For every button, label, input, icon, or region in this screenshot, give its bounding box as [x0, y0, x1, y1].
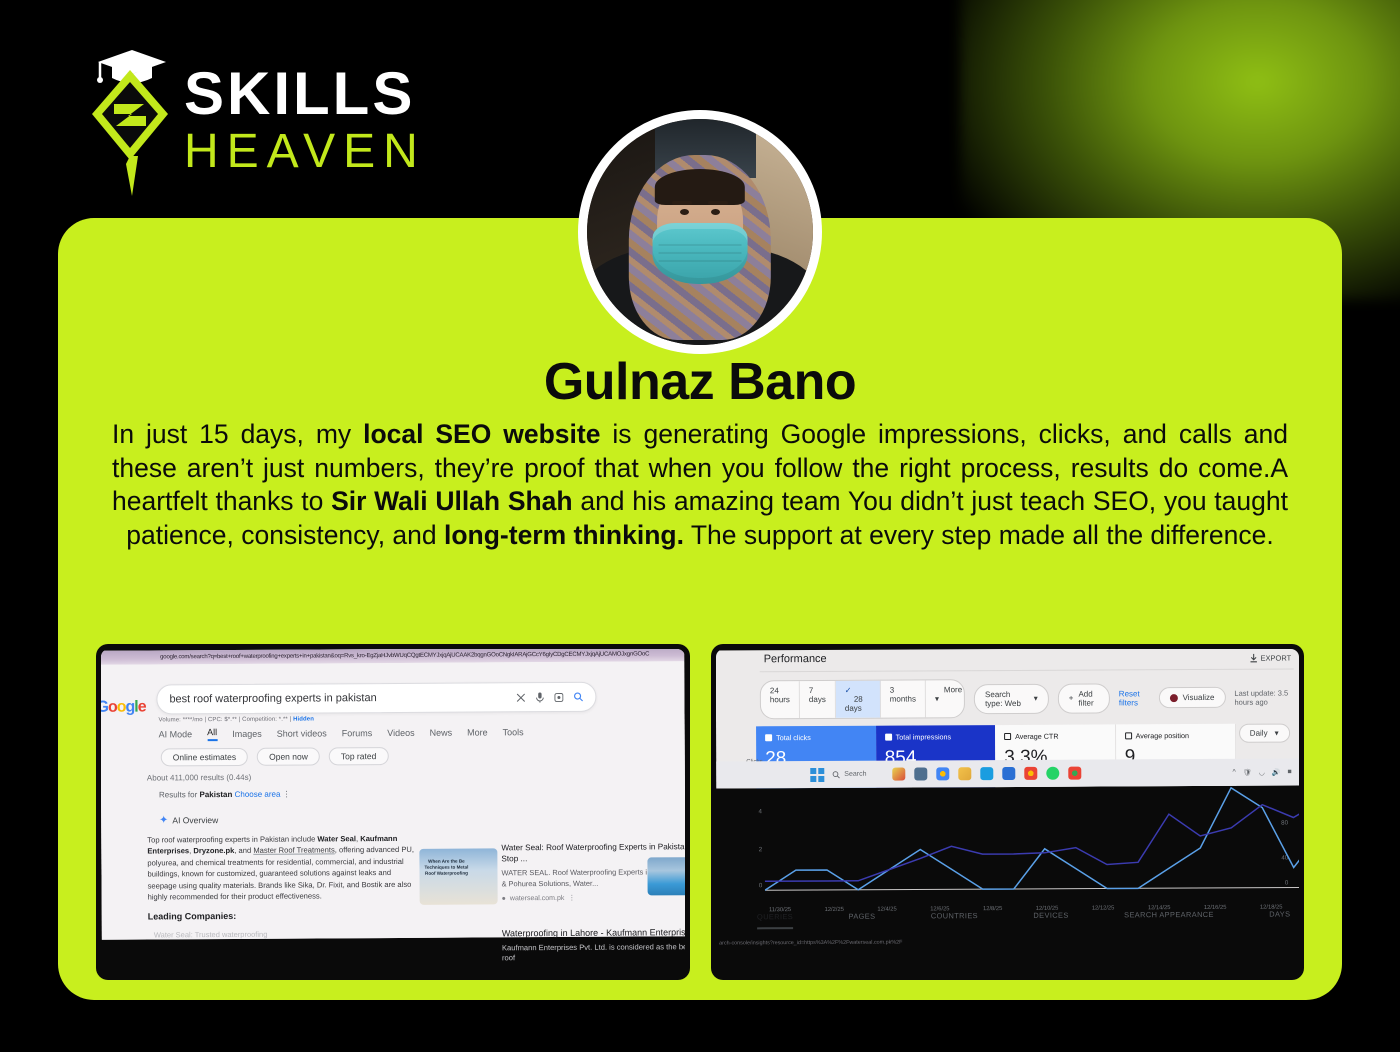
tab-more[interactable]: More	[467, 727, 488, 737]
tab-all[interactable]: All	[207, 727, 217, 741]
tab-short-videos[interactable]: Short videos	[277, 728, 327, 738]
brand-logo: SKILLS HEAVEN	[88, 50, 426, 190]
microphone-icon[interactable]	[535, 692, 544, 703]
logo-bolt-icon	[88, 64, 172, 204]
lens-icon[interactable]	[554, 692, 563, 701]
result-snippet-2: Kaufmann Enterprises Pvt. Ltd. is consid…	[502, 942, 685, 963]
search-query-text: best roof waterproofing experts in pakis…	[169, 691, 516, 705]
ai-sparkle-icon: ✦	[159, 813, 168, 826]
gsc-toolbar: 24 hours 7 days ✓ 28 days 3 months More …	[759, 677, 1299, 719]
store-icon[interactable]	[1002, 767, 1015, 780]
search-input[interactable]: best roof waterproofing experts in pakis…	[156, 682, 596, 715]
status-bar-url: arch-console/insights?resource_id=https%…	[719, 940, 902, 947]
avatar	[578, 110, 822, 354]
tab-ai-mode[interactable]: AI Mode	[159, 729, 193, 739]
ai-overview-header: ✦ AI Overview	[159, 810, 675, 826]
files-icon[interactable]	[914, 767, 927, 780]
result-menu-icon[interactable]: ⋮	[568, 894, 575, 902]
results-for-label: Results for	[159, 790, 197, 799]
testimonial-text: In just 15 days, my local SEO website is…	[112, 418, 1288, 552]
folder-icon[interactable]	[958, 767, 971, 780]
plus-icon: +	[1068, 694, 1073, 703]
tab-tools[interactable]: Tools	[503, 727, 524, 737]
taskbar-search-label: Search	[844, 771, 866, 778]
chevron-down-icon: ▾	[1033, 694, 1037, 703]
serp-screenshot: google.com/search?q=best+roof+waterproof…	[96, 644, 690, 980]
metric-label: Average position	[1135, 731, 1188, 740]
chip-top-rated[interactable]: Top rated	[329, 747, 389, 765]
taskbar-tray: ^ 🛡 ◡ 🔊 ■	[1232, 768, 1291, 776]
whatsapp-icon[interactable]	[1046, 767, 1059, 780]
date-range-selector: 24 hours 7 days ✓ 28 days 3 months More …	[759, 679, 964, 719]
ai-overview-label: AI Overview	[172, 815, 218, 825]
checkbox-unchecked-icon[interactable]	[1004, 733, 1011, 740]
tab-news[interactable]: News	[430, 728, 453, 738]
keyword-metrics-text: Volume: ****/mo | CPC: $*.** | Competiti…	[159, 717, 292, 724]
face-mask-icon	[653, 223, 748, 284]
tab-videos[interactable]: Videos	[387, 728, 414, 738]
ytick-0: 0	[758, 882, 761, 889]
close-icon[interactable]	[516, 693, 525, 702]
tab-devices[interactable]: DEVICES	[1033, 911, 1068, 928]
metric-label: Total impressions	[895, 732, 951, 741]
windows-taskbar: Search ^ 🛡	[716, 758, 1299, 788]
ai-overview-text: Top roof waterproofing experts in Pakist…	[147, 833, 419, 903]
tab-images[interactable]: Images	[232, 729, 262, 739]
result-item-1[interactable]: Water Seal: Roof Waterproofing Experts i…	[501, 841, 684, 902]
chip-online-estimates[interactable]: Online estimates	[161, 748, 248, 767]
visualize-button[interactable]: Visualize	[1158, 687, 1225, 708]
favicon-icon: ●	[502, 895, 506, 902]
tab-pages[interactable]: PAGES	[848, 912, 875, 929]
chrome-icon-2[interactable]	[1024, 767, 1037, 780]
screenshot-row: google.com/search?q=best+roof+waterproof…	[96, 644, 1304, 980]
range-7-days[interactable]: 7 days	[799, 681, 835, 718]
granularity-dropdown[interactable]: Daily▾	[1238, 724, 1289, 743]
ytick-2: 2	[758, 846, 761, 853]
results-for-row: Results for Pakistan Choose area ⋮	[159, 787, 675, 799]
search-console-screenshot: Performance EXPORT 24 hours 7 days ✓ 28 …	[711, 644, 1305, 980]
taskbar-search[interactable]: Search	[832, 770, 866, 778]
result-thumbnail	[647, 857, 684, 895]
result-title-2[interactable]: Waterproofing in Lahore - Kaufmann Enter…	[502, 927, 685, 938]
filter-chips: Online estimates Open now Top rated	[161, 745, 675, 766]
result-count: About 411,000 results (0.44s)	[147, 770, 675, 782]
range-24-hours[interactable]: 24 hours	[760, 681, 799, 718]
export-button[interactable]: EXPORT	[1249, 654, 1291, 663]
header-divider	[759, 669, 1292, 673]
paint-icon[interactable]	[892, 768, 905, 781]
shield-icon[interactable]: 🛡	[1242, 768, 1251, 776]
more-options-icon[interactable]: ⋮	[283, 790, 291, 799]
result-url[interactable]: waterseal.com.pk	[510, 895, 565, 902]
volume-icon[interactable]: 🔊	[1271, 768, 1280, 776]
gsc-dimension-tabs: QUERIES PAGES COUNTRIES DEVICES SEARCH A…	[757, 910, 1291, 930]
range-3-months[interactable]: 3 months	[880, 680, 925, 717]
organic-results: Water Seal: Roof Waterproofing Experts i…	[501, 841, 684, 963]
range-more[interactable]: More ▾	[925, 680, 964, 717]
checkbox-checked-icon[interactable]	[884, 734, 891, 741]
search-icon[interactable]	[573, 692, 583, 702]
gsc-header: Performance EXPORT	[716, 649, 1299, 673]
tab-days[interactable]: DAYS	[1269, 910, 1290, 927]
wifi-icon[interactable]: ◡	[1258, 768, 1264, 776]
tab-forums[interactable]: Forums	[342, 728, 373, 738]
metric-label: Total clicks	[776, 733, 811, 742]
tab-countries[interactable]: COUNTRIES	[930, 911, 977, 928]
export-label: EXPORT	[1260, 654, 1291, 663]
visualize-dot-icon	[1169, 694, 1177, 702]
download-icon	[1249, 654, 1257, 663]
thumbnail-caption: When Are the Be Techniques to Metal Roof…	[423, 859, 469, 877]
edge-icon[interactable]	[980, 767, 993, 780]
chrome-icon-3[interactable]	[1068, 767, 1081, 780]
tab-search-appearance[interactable]: SEARCH APPEARANCE	[1124, 910, 1214, 927]
checkbox-unchecked-icon[interactable]	[1124, 732, 1131, 739]
avatar-photo	[587, 119, 813, 345]
logo-wordmark: SKILLS HEAVEN	[184, 64, 426, 176]
result-item-2[interactable]: Waterproofing in Lahore - Kaufmann Enter…	[502, 927, 685, 963]
reset-filters-link[interactable]: Reset filters	[1118, 689, 1149, 707]
windows-start-icon[interactable]	[810, 767, 824, 781]
chrome-icon[interactable]	[936, 767, 949, 780]
results-for-place: Pakistan	[199, 790, 232, 799]
serp-nav-tabs: AI Mode All Images Short videos Forums V…	[159, 724, 675, 741]
gsc-page-title: Performance	[763, 653, 826, 665]
taskbar-apps	[892, 767, 1081, 781]
metric-label: Average CTR	[1015, 732, 1058, 741]
keyword-tool-overlay: Volume: ****/mo | CPC: $*.** | Competiti…	[159, 714, 675, 723]
keyword-hidden-link[interactable]: Hidden	[293, 716, 314, 722]
search-icon	[832, 770, 840, 778]
range-28-days[interactable]: ✓ 28 days	[835, 681, 880, 718]
battery-icon[interactable]: ■	[1287, 769, 1291, 776]
search-type-dropdown[interactable]: Search type: Web▾	[973, 683, 1048, 713]
chart-series-clicks	[764, 787, 1299, 890]
chip-open-now[interactable]: Open now	[257, 747, 320, 765]
ytick-4: 4	[758, 808, 761, 815]
last-update-text: Last update: 3.5 hours ago	[1234, 688, 1299, 706]
logo-mark	[88, 50, 172, 190]
chevron-down-icon: ▾	[1274, 729, 1278, 738]
page-title: Gulnaz Bano	[0, 352, 1400, 412]
choose-area-link[interactable]: Choose area	[235, 790, 281, 799]
ai-overview-thumbnail[interactable]: When Are the Be Techniques to Metal Roof…	[419, 848, 497, 904]
checkbox-checked-icon[interactable]	[765, 734, 772, 741]
logo-heaven-text: HEAVEN	[184, 128, 426, 176]
google-logo: Google	[101, 699, 146, 717]
tab-queries[interactable]: QUERIES	[757, 912, 793, 929]
add-filter-button[interactable]: + Add filter	[1057, 683, 1109, 713]
logo-skills-text: SKILLS	[184, 64, 426, 124]
chevron-up-icon[interactable]: ^	[1232, 769, 1235, 776]
